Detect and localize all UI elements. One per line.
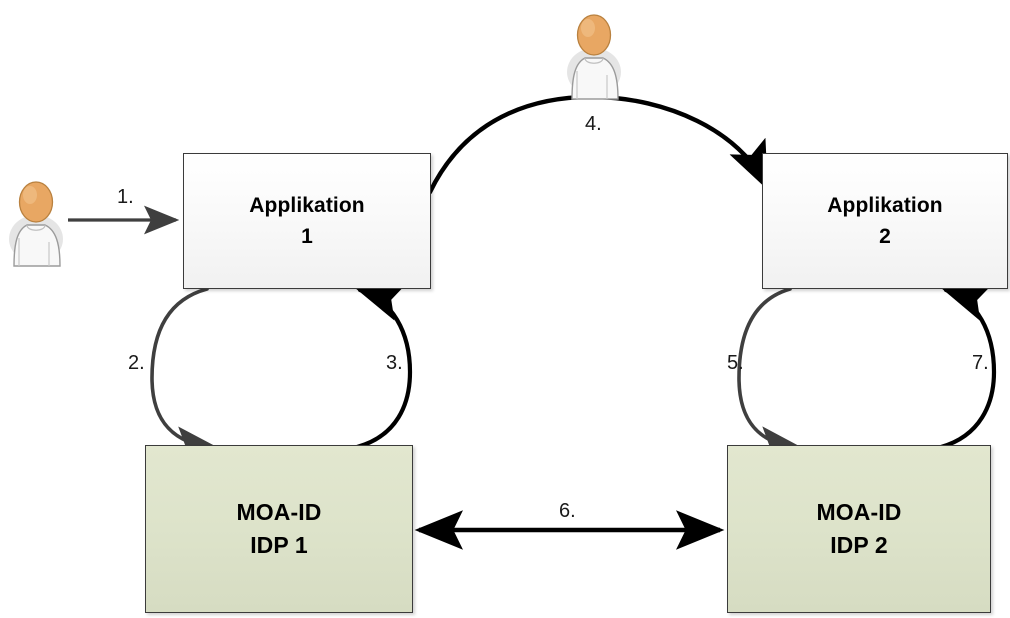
node-label-line1: Applikation [249,190,364,221]
user-left-actor [5,172,67,268]
connector-step-2 [152,289,216,448]
node-label-line1: Applikation [827,190,942,221]
connector-step-5 [739,289,800,448]
node-label-line1: MOA-ID [237,496,322,529]
node-moa-id-idp-1[interactable]: MOA-ID IDP 1 [145,445,413,613]
step-label-4: 4. [585,113,602,136]
connector-step-4 [430,97,766,192]
node-label-line2: IDP 2 [830,529,888,562]
node-label-line2: 2 [879,221,891,252]
node-label-line2: 1 [301,221,313,252]
node-applikation-2[interactable]: Applikation 2 [762,153,1008,289]
step-label-7: 7. [972,352,989,375]
node-applikation-1[interactable]: Applikation 1 [183,153,431,289]
user-top-actor [563,5,625,101]
diagram-canvas: Applikation 1 Applikation 2 MOA-ID IDP 1… [0,0,1010,618]
node-label-line1: MOA-ID [817,496,902,529]
step-label-6: 6. [559,500,576,523]
node-moa-id-idp-2[interactable]: MOA-ID IDP 2 [727,445,991,613]
step-label-2: 2. [128,352,145,375]
step-label-5: 5. [727,352,744,375]
step-label-3: 3. [386,352,403,375]
step-label-1: 1. [117,186,134,209]
node-label-line2: IDP 1 [250,529,308,562]
